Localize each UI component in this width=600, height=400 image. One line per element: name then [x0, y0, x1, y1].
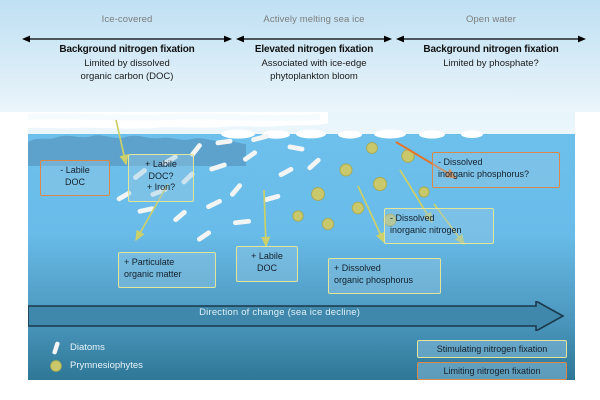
figure-root: Ice-covered Background nitrogen fixation… [0, 0, 600, 400]
ocean-panel: - Labile DOC + Labile DOC? + Iron? + Par… [28, 112, 575, 380]
annotation-dissolved-org-phos[interactable]: + Dissolved organic phosphorus [328, 258, 441, 294]
header-column-open-water: Open water Background nitrogen fixation … [396, 0, 586, 112]
header-band: Ice-covered Background nitrogen fixation… [0, 0, 600, 112]
legend-label: Diatoms [70, 342, 105, 353]
annotation-particulate-organic[interactable]: + Particulate organic matter [118, 252, 216, 288]
annotation-dissolved-inorg-nitro[interactable]: - Dissolved inorganic nitrogen [384, 208, 494, 244]
annotation-labile-doc-pos[interactable]: + Labile DOC [236, 246, 298, 282]
diatom-glyph [48, 340, 64, 356]
header-subtitle: Limited by phosphate? [396, 58, 586, 71]
legend-label: Prymnesiophytes [70, 360, 143, 371]
legend-row-prymnesiophytes: Prymnesiophytes [38, 358, 268, 376]
header-subtitle: Associated with ice-edge phytoplankton b… [236, 58, 392, 83]
annotation-labile-doc-neg[interactable]: - Labile DOC [40, 160, 110, 196]
range-arrow-icon [22, 34, 232, 44]
range-arrow-icon [396, 34, 586, 44]
annotation-dissolved-inorg-phos[interactable]: - Dissolved inorganic phosphorus? [432, 152, 560, 188]
annotation-labile-doc-iron[interactable]: + Labile DOC? + Iron? [128, 154, 194, 202]
key-stimulating-nitrogen-fixation[interactable]: Stimulating nitrogen fixation [417, 340, 567, 358]
plankton-legend: Diatoms Prymnesiophytes [38, 340, 268, 378]
header-column-actively-melting: Actively melting sea ice Elevated nitrog… [236, 0, 392, 112]
key-limiting-nitrogen-fixation[interactable]: Limiting nitrogen fixation [417, 362, 567, 380]
header-category: Ice-covered [22, 14, 232, 25]
prymnesiophyte-glyph [48, 358, 64, 374]
header-column-ice-covered: Ice-covered Background nitrogen fixation… [22, 0, 232, 112]
header-category: Actively melting sea ice [236, 14, 392, 25]
header-title: Background nitrogen fixation [22, 44, 232, 55]
direction-of-change-label: Direction of change (sea ice decline) [28, 307, 531, 318]
header-category: Open water [396, 14, 586, 25]
range-arrow-icon [236, 34, 392, 44]
legend-row-diatoms: Diatoms [38, 340, 268, 358]
header-title: Elevated nitrogen fixation [236, 44, 392, 55]
header-title: Background nitrogen fixation [396, 44, 586, 55]
header-subtitle: Limited by dissolved organic carbon (DOC… [22, 58, 232, 83]
